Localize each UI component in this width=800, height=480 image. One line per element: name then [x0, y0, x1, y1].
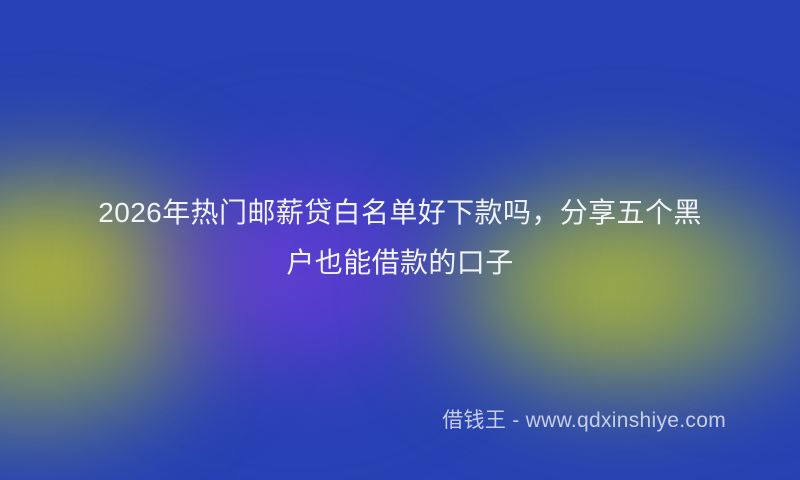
banner-title: 2026年热门邮薪贷白名单好下款吗，分享五个黑 户也能借款的口子	[50, 188, 750, 288]
banner-title-line-1: 2026年热门邮薪贷白名单好下款吗，分享五个黑	[50, 188, 750, 238]
promo-banner: 2026年热门邮薪贷白名单好下款吗，分享五个黑 户也能借款的口子 借钱王 - w…	[0, 0, 800, 480]
watermark-label: 借钱王 - www.qdxinshiye.com	[0, 406, 726, 436]
glow-blob-yellow-left-lower	[0, 300, 180, 460]
banner-title-line-2: 户也能借款的口子	[50, 238, 750, 288]
watermark: 借钱王 - www.qdxinshiye.com	[0, 406, 726, 436]
